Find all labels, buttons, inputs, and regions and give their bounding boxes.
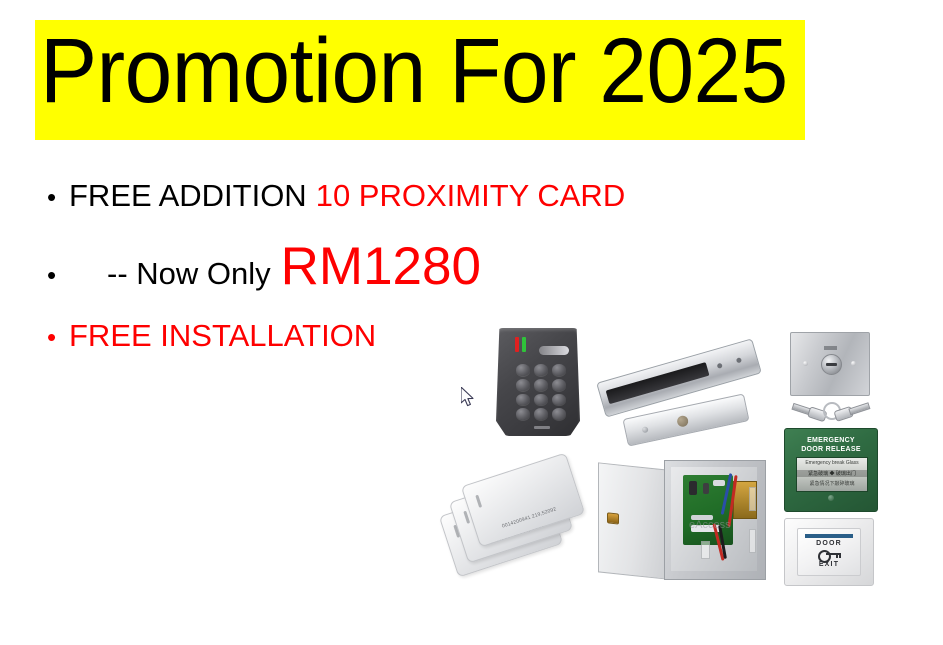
key-blade	[848, 402, 870, 415]
armature-stud	[676, 415, 689, 428]
armature-screw	[642, 426, 649, 433]
keypad-key	[534, 394, 548, 406]
bullet-2-text-black: -- Now Only	[107, 256, 271, 292]
maglock-screw-hole	[736, 357, 742, 363]
bullet-marker-icon: •	[47, 184, 69, 210]
power-supply-box-image: eAccess	[598, 460, 766, 582]
keypad-key	[516, 379, 530, 391]
bullet-item-free-addition: • FREE ADDITION 10 PROXIMITY CARD	[47, 178, 625, 214]
bullet-3-text-red: FREE INSTALLATION	[69, 318, 376, 354]
psu-door-lock-icon	[607, 512, 619, 524]
emergency-window-text-1: Emergency break Glass	[797, 460, 867, 466]
emergency-window-text-3: 紧急情况下敲碎玻璃	[797, 480, 867, 487]
key-tooth	[839, 553, 841, 558]
reader-body	[496, 328, 580, 436]
led-green-icon	[522, 337, 526, 352]
pcb-capacitor	[689, 481, 697, 495]
emergency-title-line-2: DOOR RELEASE	[785, 445, 877, 454]
emergency-window-text-2: 紧急破璃 ◆ 破璃出门	[797, 470, 867, 477]
psu-vent-slot	[749, 529, 756, 553]
keyswitch-label-mark	[824, 346, 837, 350]
door-exit-button-image: DOOR EXIT	[784, 518, 872, 588]
key-tooth	[836, 553, 838, 558]
faceplate-screw	[851, 361, 856, 366]
psu-vent-slot	[749, 487, 756, 511]
keypad-key	[534, 379, 548, 391]
emergency-glass-window: Emergency break Glass 紧急破璃 ◆ 破璃出门 紧急情况下敲…	[796, 457, 868, 492]
exit-button-label-top: DOOR	[798, 540, 860, 547]
bullet-item-free-installation: • FREE INSTALLATION	[47, 318, 376, 354]
maglock-magnet-face	[606, 362, 710, 404]
exit-push-button: DOOR EXIT	[797, 528, 861, 576]
keypad-access-reader-image	[492, 328, 584, 440]
card-slot	[475, 495, 482, 508]
proximity-cards-image: 0014200941 219,52092 0014200741 219,5209…	[446, 458, 586, 568]
psu-door-panel	[598, 462, 668, 579]
bullet-1-text-black: FREE ADDITION	[69, 178, 307, 214]
proximity-card: 0014200941 219,52092	[461, 453, 585, 548]
emergency-title-line-1: EMERGENCY	[785, 436, 877, 445]
exit-button-faceplate: DOOR EXIT	[784, 518, 874, 586]
product-image-gallery: 0014200941 219,52092 0014200741 219,5209…	[440, 300, 940, 590]
mouse-pointer-icon	[461, 387, 475, 407]
keypad-key	[516, 394, 530, 406]
keypad-key	[534, 364, 548, 376]
led-red-icon	[515, 337, 519, 352]
magnetic-door-lock-image	[590, 314, 770, 464]
keypad-key	[534, 408, 548, 420]
bullet-marker-icon: •	[47, 262, 69, 288]
key-switch-plate-image	[790, 332, 868, 402]
price-value: RM1280	[281, 236, 481, 297]
exit-button-label-bottom: EXIT	[798, 561, 860, 568]
keyswitch-lock-barrel-icon	[821, 354, 842, 375]
exit-button-stripe	[805, 534, 853, 538]
key-icon	[791, 401, 826, 420]
reader-brand-logo	[539, 346, 569, 355]
key-slot	[826, 363, 837, 366]
reader-keypad	[516, 364, 566, 420]
emergency-reset-screw	[828, 495, 834, 501]
keypad-key	[516, 364, 530, 376]
psu-watermark-text: eAccess	[689, 519, 731, 531]
maglock-screw-hole	[717, 363, 723, 369]
bullet-item-price: • -- Now Only RM1280	[47, 236, 481, 297]
bullet-marker-icon: •	[47, 324, 69, 350]
psu-interior: eAccess	[671, 467, 757, 571]
emergency-door-release-image: EMERGENCY DOOR RELEASE Emergency break G…	[784, 428, 876, 510]
keypad-key	[552, 408, 566, 420]
keypad-key	[552, 364, 566, 376]
psu-vent-slot	[701, 541, 710, 559]
bullet-1-text-red: 10 PROXIMITY CARD	[316, 178, 626, 214]
keyswitch-faceplate	[790, 332, 870, 396]
key-icon	[818, 550, 840, 559]
emergency-unit-body: EMERGENCY DOOR RELEASE Emergency break G…	[784, 428, 878, 512]
keypad-key	[516, 408, 530, 420]
psu-enclosure: eAccess	[664, 460, 766, 580]
pcb-capacitor	[703, 483, 709, 494]
keypad-key	[552, 394, 566, 406]
psu-circuit-board	[683, 475, 733, 545]
page-title: Promotion For 2025	[40, 22, 747, 120]
key-icon	[833, 401, 868, 420]
reader-model-label	[534, 426, 550, 429]
faceplate-screw	[803, 361, 808, 366]
keypad-key	[552, 379, 566, 391]
pcb-component	[713, 480, 725, 486]
